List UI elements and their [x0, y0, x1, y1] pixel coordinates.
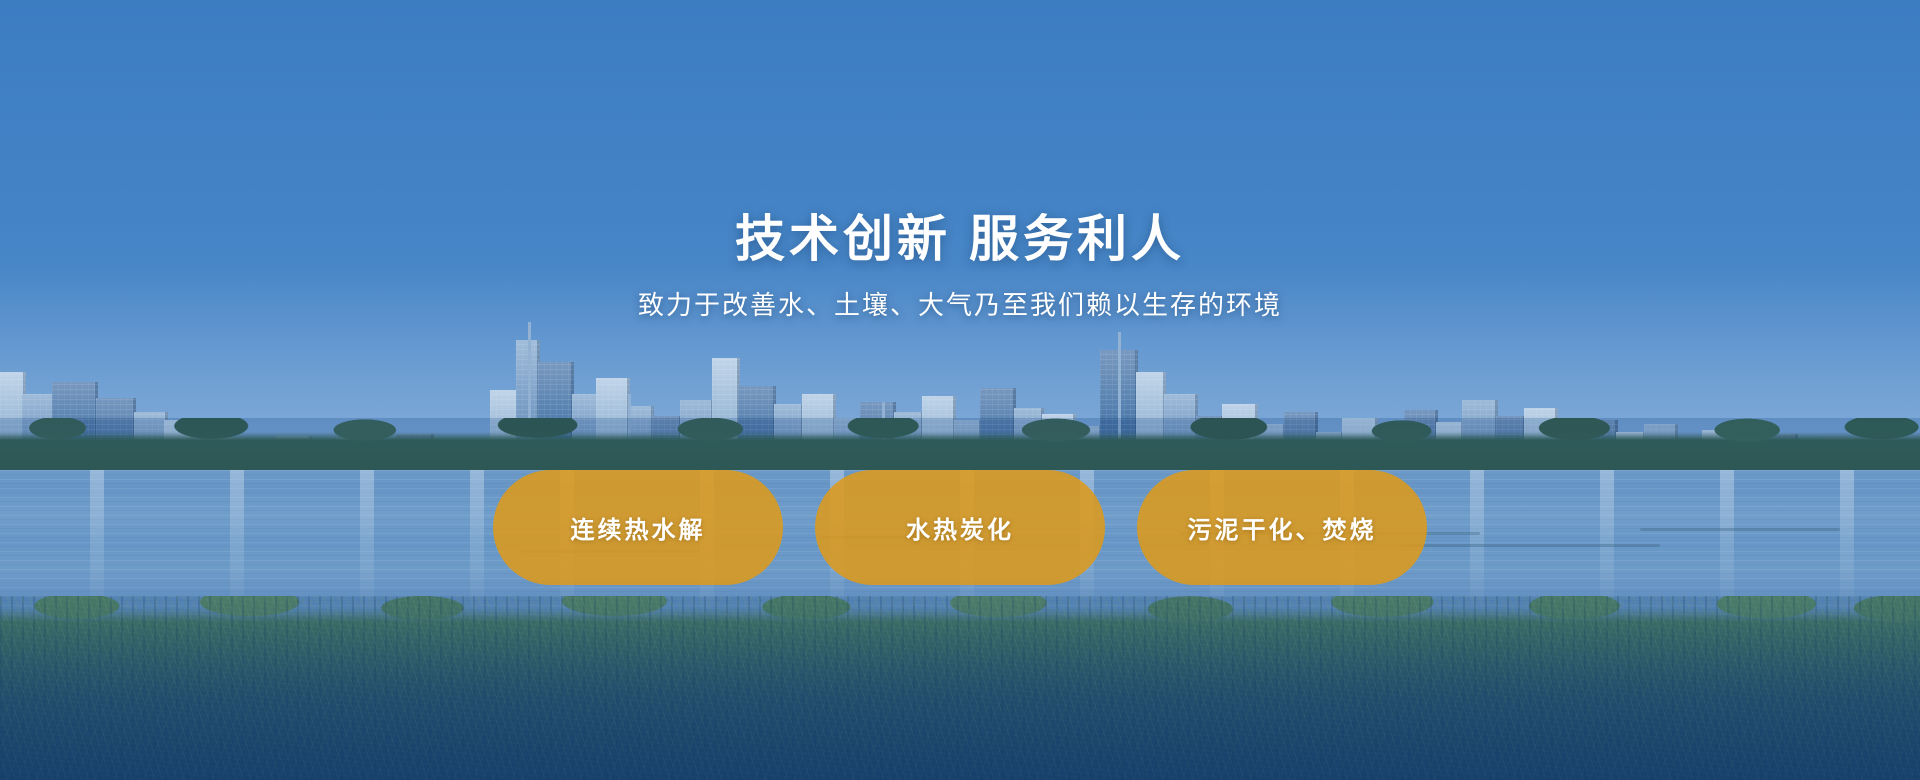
hero-subtitle: 致力于改善水、土壤、大气乃至我们赖以生存的环境 — [0, 285, 1920, 322]
hero-copy: 技术创新 服务利人 致力于改善水、土壤、大气乃至我们赖以生存的环境 — [0, 212, 1920, 322]
pill-button-hydrothermal-carbonization[interactable]: 水热炭化 — [815, 470, 1105, 585]
pill-button-continuous-thermal-hydrolysis[interactable]: 连续热水解 — [493, 470, 783, 585]
foreground-vegetation-layer — [0, 596, 1920, 780]
vegetation-blue-tint — [0, 596, 1920, 780]
hero-banner: 技术创新 服务利人 致力于改善水、土壤、大气乃至我们赖以生存的环境 连续热水解 … — [0, 0, 1920, 780]
page-title: 技术创新 服务利人 — [0, 212, 1920, 267]
pill-button-sludge-drying-incineration[interactable]: 污泥干化、焚烧 — [1137, 470, 1427, 585]
service-pill-row: 连续热水解 水热炭化 污泥干化、焚烧 — [0, 470, 1920, 585]
